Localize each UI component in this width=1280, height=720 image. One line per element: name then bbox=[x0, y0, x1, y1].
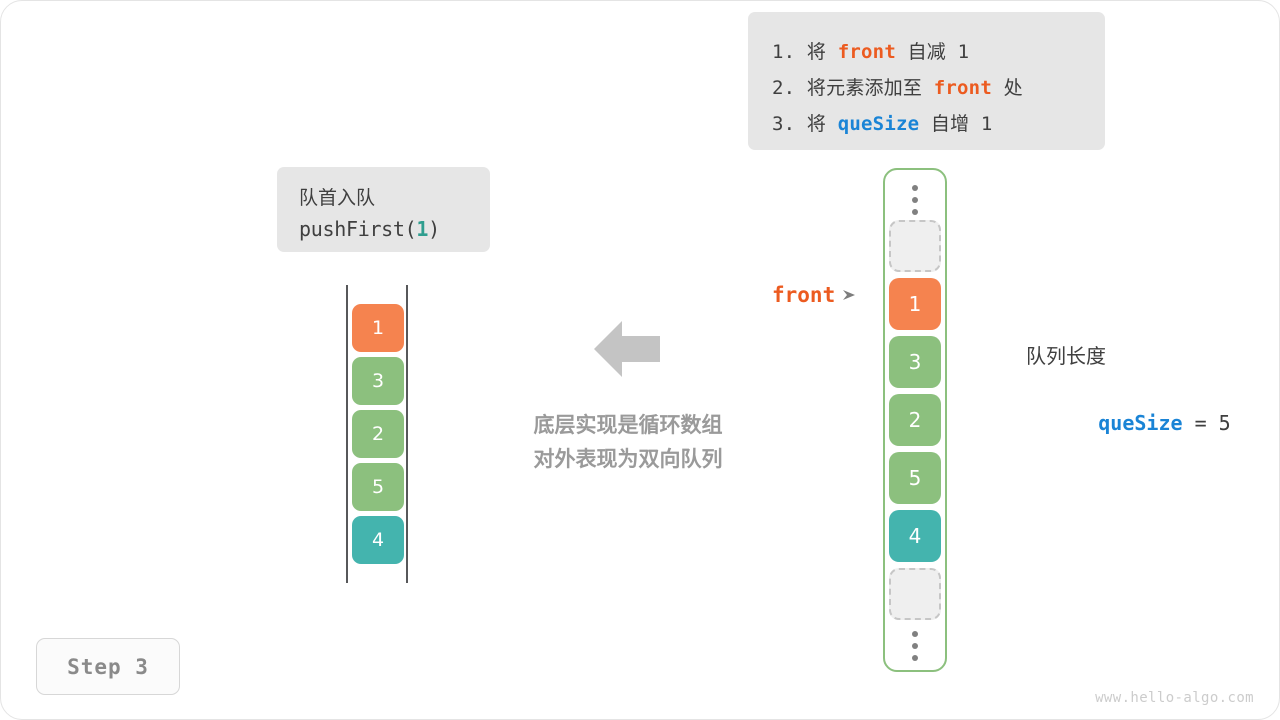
quesize-equals: = bbox=[1183, 411, 1219, 435]
circular-cell-empty bbox=[889, 220, 941, 272]
quesize-var: queSize bbox=[1098, 411, 1182, 435]
steps-info-box: 1. 将 front 自减 1 2. 将元素添加至 front 处 3. 将 q… bbox=[748, 12, 1105, 150]
step-badge: Step 3 bbox=[36, 638, 180, 695]
step-line-3-keyword: queSize bbox=[838, 113, 919, 135]
deque-cell-list: 1 3 2 5 4 bbox=[352, 304, 404, 569]
operation-call-suffix: ) bbox=[428, 217, 440, 241]
circular-array-view: 1 3 2 5 4 bbox=[883, 168, 947, 672]
operation-call-prefix: pushFirst( bbox=[299, 217, 416, 241]
left-arrow-icon bbox=[594, 318, 660, 380]
quesize-value: 5 bbox=[1219, 411, 1231, 435]
circular-cell: 1 bbox=[889, 278, 941, 330]
pointer-arrow-icon bbox=[842, 288, 856, 302]
circular-cell: 5 bbox=[889, 452, 941, 504]
circular-cell: 3 bbox=[889, 336, 941, 388]
deque-cell: 3 bbox=[352, 357, 404, 405]
watermark: www.hello-algo.com bbox=[1095, 690, 1254, 706]
deque-cell: 1 bbox=[352, 304, 404, 352]
front-pointer: front bbox=[772, 283, 856, 307]
operation-info-box: 队首入队 pushFirst(1) bbox=[277, 167, 490, 252]
deque-bracket-right bbox=[406, 285, 408, 583]
operation-call: pushFirst(1) bbox=[299, 213, 490, 245]
caption-line-2: 对外表现为双向队列 bbox=[488, 442, 768, 476]
step-line-3-prefix: 3. 将 bbox=[772, 113, 838, 135]
circular-cell: 2 bbox=[889, 394, 941, 446]
quesize-annotation: 队列长度 queSize = 5 bbox=[1026, 340, 1231, 474]
step-line-1-prefix: 1. 将 bbox=[772, 41, 838, 63]
step-line-2: 2. 将元素添加至 front 处 bbox=[772, 70, 1081, 106]
operation-title: 队首入队 bbox=[299, 183, 490, 213]
circular-cell-empty bbox=[889, 568, 941, 620]
step-line-2-suffix: 处 bbox=[992, 77, 1023, 99]
step-line-1-keyword: front bbox=[838, 41, 896, 63]
caption-line-1: 底层实现是循环数组 bbox=[488, 408, 768, 442]
quesize-title: 队列长度 bbox=[1026, 340, 1231, 372]
deque-cell: 2 bbox=[352, 410, 404, 458]
circular-cell: 4 bbox=[889, 510, 941, 562]
step-line-2-prefix: 2. 将元素添加至 bbox=[772, 77, 934, 99]
step-line-1-suffix: 自减 1 bbox=[896, 41, 969, 63]
diagram-caption: 底层实现是循环数组 对外表现为双向队列 bbox=[488, 408, 768, 476]
bottom-ellipsis-icon bbox=[912, 626, 918, 666]
step-line-2-keyword: front bbox=[934, 77, 992, 99]
operation-call-arg: 1 bbox=[416, 217, 428, 241]
deque-linear-view: 1 3 2 5 4 bbox=[346, 285, 408, 583]
quesize-expression: queSize = 5 bbox=[1026, 372, 1231, 474]
diagram-canvas: 1. 将 front 自减 1 2. 将元素添加至 front 处 3. 将 q… bbox=[0, 0, 1280, 720]
deque-bracket-left bbox=[346, 285, 348, 583]
front-pointer-label: front bbox=[772, 283, 835, 307]
step-line-3-suffix: 自增 1 bbox=[919, 113, 992, 135]
deque-cell: 5 bbox=[352, 463, 404, 511]
deque-cell: 4 bbox=[352, 516, 404, 564]
step-line-1: 1. 将 front 自减 1 bbox=[772, 34, 1081, 70]
top-ellipsis-icon bbox=[912, 180, 918, 220]
step-line-3: 3. 将 queSize 自增 1 bbox=[772, 106, 1081, 142]
